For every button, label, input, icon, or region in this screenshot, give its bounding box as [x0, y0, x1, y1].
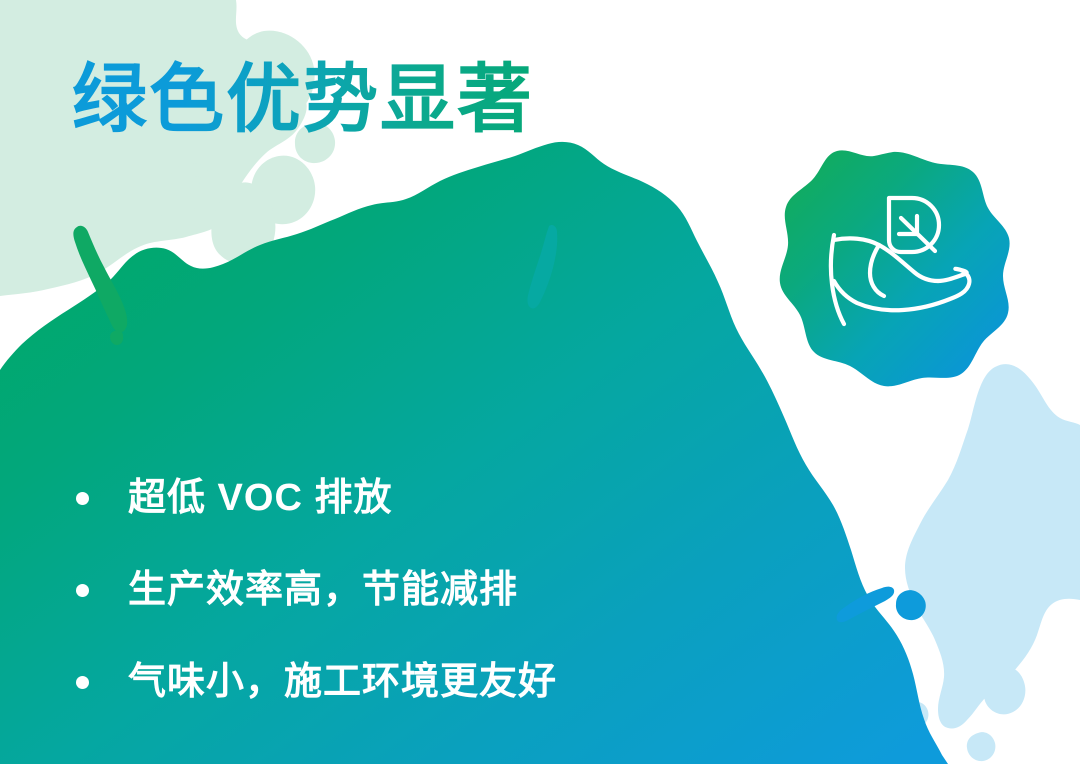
bullet-dot-icon	[76, 492, 89, 505]
green-droplet-streak	[73, 226, 127, 333]
light-blue-splash	[903, 364, 1080, 761]
page-title-container: 绿色优势显著	[72, 60, 534, 140]
slide-canvas: 绿色优势显著 超低 VOC 排放 生产效率高，节能减排 气味小，施工环境更友好	[0, 0, 1080, 764]
blue-droplet-dash	[837, 587, 895, 623]
bullet-dot-icon	[76, 676, 89, 689]
blue-droplet-streak	[896, 590, 926, 620]
bullet-label: 气味小，施工环境更友好	[128, 663, 557, 701]
green-droplet-dot	[110, 330, 123, 345]
bullet-label: 超低 VOC 排放	[128, 479, 392, 517]
eco-badge	[775, 150, 1015, 390]
list-item: 生产效率高，节能减排	[76, 544, 557, 636]
list-item: 气味小，施工环境更友好	[76, 636, 557, 728]
feature-bullet-list: 超低 VOC 排放 生产效率高，节能减排 气味小，施工环境更友好	[76, 452, 557, 728]
mint-droplet-cluster	[161, 163, 275, 264]
mint-splash	[0, 0, 335, 296]
bullet-dot-icon	[76, 584, 89, 597]
teal-droplet-streak	[527, 225, 557, 308]
bullet-label: 生产效率高，节能减排	[128, 571, 518, 609]
badge-blob-shape	[780, 150, 1010, 386]
list-item: 超低 VOC 排放	[76, 452, 557, 544]
page-title: 绿色优势显著	[72, 60, 534, 140]
